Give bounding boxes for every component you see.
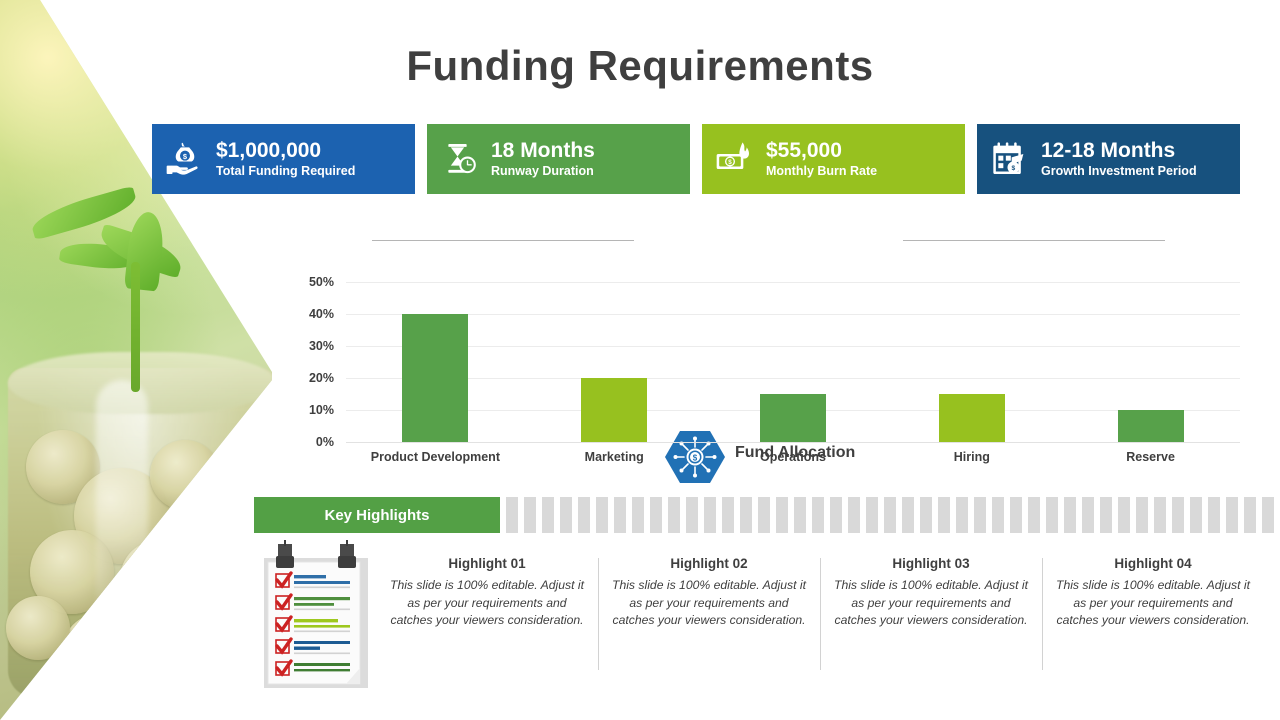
chart-bar-column bbox=[346, 282, 525, 442]
highlight-columns: Highlight 01This slide is 100% editable.… bbox=[376, 556, 1264, 672]
highlight-title: Highlight 01 bbox=[390, 556, 584, 571]
fund-allocation-chart: 0%10%20%30%40%50% Product DevelopmentMar… bbox=[290, 282, 1240, 474]
highlight-item: Highlight 03This slide is 100% editable.… bbox=[820, 556, 1042, 672]
chart-bar[interactable] bbox=[1118, 410, 1184, 442]
chart-y-tick: 10% bbox=[309, 403, 334, 417]
divider-right bbox=[903, 240, 1165, 241]
chart-bar-column bbox=[882, 282, 1061, 442]
coin bbox=[60, 612, 148, 700]
chart-y-tick: 40% bbox=[309, 307, 334, 321]
stat-card-label: Monthly Burn Rate bbox=[766, 165, 877, 179]
stat-card-runway[interactable]: 18 Months Runway Duration bbox=[427, 124, 690, 194]
chart-x-tick: Hiring bbox=[882, 450, 1061, 464]
divider-left bbox=[372, 240, 634, 241]
coin bbox=[6, 596, 70, 660]
hourglass-clock-icon bbox=[439, 138, 481, 180]
sprout-stem bbox=[131, 262, 140, 392]
chart-x-axis: Product DevelopmentMarketingOperationsHi… bbox=[346, 450, 1240, 464]
key-highlights-banner: Key Highlights bbox=[254, 497, 500, 533]
chart-x-tick: Marketing bbox=[525, 450, 704, 464]
svg-text:$: $ bbox=[728, 159, 732, 166]
stat-card-label: Growth Investment Period bbox=[1041, 165, 1197, 179]
chart-gridline bbox=[346, 442, 1240, 443]
jar-highlight bbox=[96, 380, 148, 630]
checklist-clipboard-icon bbox=[256, 540, 376, 692]
chart-x-tick: Product Development bbox=[346, 450, 525, 464]
chart-bar[interactable] bbox=[760, 394, 826, 442]
money-bag-in-hand-icon: $ bbox=[164, 138, 206, 180]
stat-card-row: $ $1,000,000 Total Funding Required bbox=[152, 124, 1240, 194]
burning-money-icon: $ bbox=[714, 138, 756, 180]
svg-text:$: $ bbox=[1011, 165, 1015, 172]
decorative-photo-triangle bbox=[0, 0, 300, 720]
highlight-item: Highlight 01This slide is 100% editable.… bbox=[376, 556, 598, 672]
stat-card-value: 18 Months bbox=[491, 140, 595, 163]
chart-bar-column bbox=[1061, 282, 1240, 442]
chart-bar-column bbox=[704, 282, 883, 442]
chart-plot-area bbox=[346, 282, 1240, 442]
highlight-description: This slide is 100% editable. Adjust it a… bbox=[834, 577, 1028, 630]
stat-card-value: $55,000 bbox=[766, 140, 877, 163]
highlight-description: This slide is 100% editable. Adjust it a… bbox=[612, 577, 806, 630]
chart-y-tick: 30% bbox=[309, 339, 334, 353]
striped-decoration bbox=[506, 497, 1280, 533]
stat-card-value: 12-18 Months bbox=[1041, 140, 1197, 163]
chart-bar[interactable] bbox=[581, 378, 647, 442]
highlight-description: This slide is 100% editable. Adjust it a… bbox=[390, 577, 584, 630]
stat-card-growth-period[interactable]: $ 12-18 Months Growth Investment Period bbox=[977, 124, 1240, 194]
stat-card-value: $1,000,000 bbox=[216, 140, 355, 163]
slide: Funding Requirements $ $1,000,000 Total … bbox=[0, 0, 1280, 720]
chart-y-axis: 0%10%20%30%40%50% bbox=[290, 282, 334, 442]
highlight-title: Highlight 02 bbox=[612, 556, 806, 571]
chart-bar[interactable] bbox=[939, 394, 1005, 442]
stat-card-label: Runway Duration bbox=[491, 165, 595, 179]
chart-x-tick: Operations bbox=[704, 450, 883, 464]
chart-y-tick: 50% bbox=[309, 275, 334, 289]
chart-y-tick: 20% bbox=[309, 371, 334, 385]
highlight-item: Highlight 02This slide is 100% editable.… bbox=[598, 556, 820, 672]
chart-bar[interactable] bbox=[402, 314, 468, 442]
chart-y-tick: 0% bbox=[316, 435, 334, 449]
highlight-item: Highlight 04This slide is 100% editable.… bbox=[1042, 556, 1264, 672]
stat-card-total-funding[interactable]: $ $1,000,000 Total Funding Required bbox=[152, 124, 415, 194]
chart-x-tick: Reserve bbox=[1061, 450, 1240, 464]
stat-card-burn-rate[interactable]: $ $55,000 Monthly Burn Rate bbox=[702, 124, 965, 194]
key-highlights-label: Key Highlights bbox=[324, 507, 429, 524]
highlight-description: This slide is 100% editable. Adjust it a… bbox=[1056, 577, 1250, 630]
page-title: Funding Requirements bbox=[0, 42, 1280, 90]
highlight-title: Highlight 04 bbox=[1056, 556, 1250, 571]
highlight-title: Highlight 03 bbox=[834, 556, 1028, 571]
coin bbox=[150, 440, 220, 510]
chart-bars bbox=[346, 282, 1240, 442]
calendar-money-icon: $ bbox=[989, 138, 1031, 180]
chart-bar-column bbox=[525, 282, 704, 442]
stat-card-label: Total Funding Required bbox=[216, 165, 355, 179]
section-header: $ Fund Allocation bbox=[0, 216, 1280, 266]
